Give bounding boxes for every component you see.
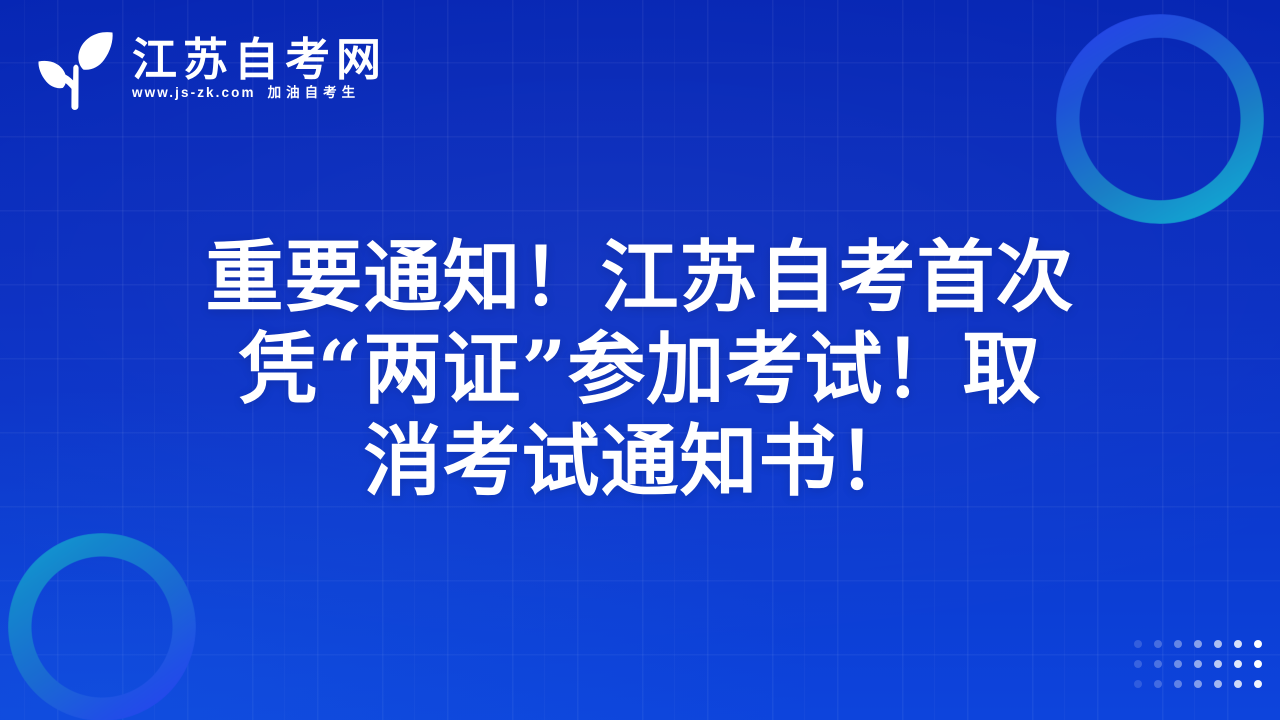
- page-title: 重要通知！江苏自考首次 凭“两证”参加考试！取 消考试通知书！: [0, 232, 1280, 508]
- decorative-dot: [1214, 640, 1222, 648]
- decorative-dot: [1194, 680, 1202, 688]
- logo-wordmark: 江苏自考网: [132, 37, 387, 82]
- decorative-dot: [1134, 660, 1142, 668]
- decorative-dot: [1234, 640, 1242, 648]
- decorative-dot: [1254, 640, 1262, 648]
- decorative-dot: [1214, 660, 1222, 668]
- logo-slogan: 加油自考生: [268, 86, 361, 100]
- logo-text-block: 江苏自考网 www.js-zk.com 加油自考生: [132, 37, 387, 100]
- headline-line-2: 凭“两证”参加考试！取: [170, 324, 1110, 416]
- sprout-leaf-icon: [34, 24, 118, 112]
- decorative-dot: [1194, 640, 1202, 648]
- decorative-dot: [1154, 640, 1162, 648]
- decorative-dot: [1234, 660, 1242, 668]
- poster-canvas: 江苏自考网 www.js-zk.com 加油自考生 重要通知！江苏自考首次 凭“…: [0, 0, 1280, 720]
- decorative-dot: [1154, 660, 1162, 668]
- logo-subline: www.js-zk.com 加油自考生: [132, 86, 387, 100]
- decorative-ring-top-right: [1056, 14, 1264, 224]
- site-logo: 江苏自考网 www.js-zk.com 加油自考生: [34, 24, 387, 112]
- decorative-dot: [1234, 680, 1242, 688]
- decorative-dot: [1254, 680, 1262, 688]
- decorative-dot: [1214, 680, 1222, 688]
- headline-line-3: 消考试通知书！: [170, 416, 1110, 508]
- logo-url: www.js-zk.com: [132, 86, 256, 100]
- decorative-dot: [1254, 660, 1262, 668]
- decorative-dot: [1134, 640, 1142, 648]
- headline-line-1: 重要通知！江苏自考首次: [170, 232, 1110, 324]
- decorative-dot: [1154, 680, 1162, 688]
- decorative-dot: [1134, 680, 1142, 688]
- decorative-dot: [1194, 660, 1202, 668]
- decorative-dot: [1174, 680, 1182, 688]
- decorative-ring-bottom-left: [8, 533, 196, 720]
- decorative-dot: [1174, 660, 1182, 668]
- decorative-dot: [1174, 640, 1182, 648]
- decorative-dot-grid: [1128, 634, 1268, 694]
